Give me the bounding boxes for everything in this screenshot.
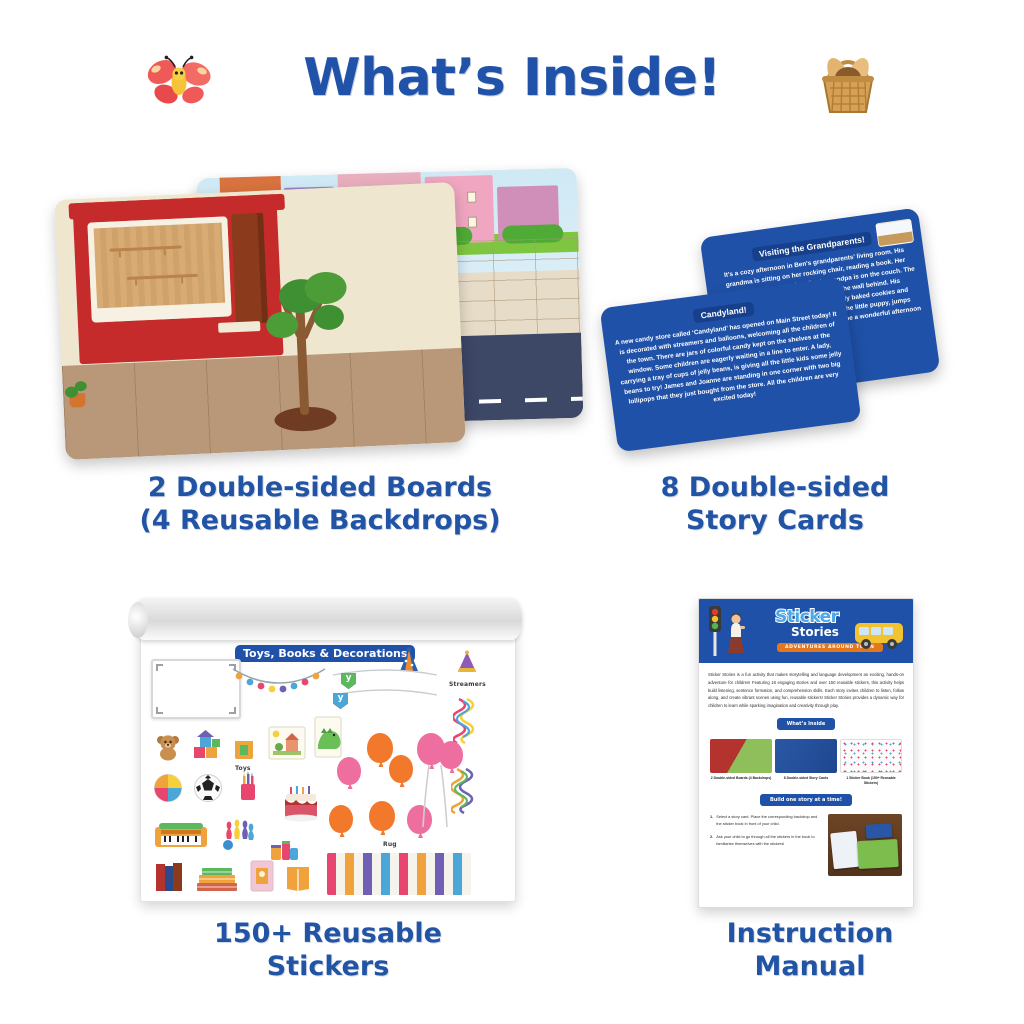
toy-box-sticker — [233, 735, 255, 761]
manual-step-photo — [828, 814, 902, 876]
label-streamers: Streamers — [449, 681, 486, 688]
step-text: Ask your child to go through all the sti… — [716, 834, 822, 847]
traffic-light-icon — [707, 605, 723, 657]
open-book-sticker — [285, 863, 311, 893]
manual-logo-sticker: Sticker — [775, 607, 839, 627]
manual-build-story-pill: Build one story at a time! — [760, 794, 852, 806]
books-sticker — [153, 861, 187, 893]
building-blocks-sticker — [191, 729, 223, 761]
step-text: Select a story card. Place the correspon… — [716, 814, 822, 827]
caption-line: Stickers — [128, 951, 528, 984]
thumb-caption: 8 Double-sided Story Cards — [775, 776, 837, 781]
whats-inside-page: What’s Inside! — [0, 0, 1024, 1024]
manual-body: Sticker Stories is a fun activity that m… — [699, 663, 913, 876]
manual-step: 1. Select a story card. Place the corres… — [710, 814, 822, 827]
manual-logo-stories: Stories — [791, 625, 839, 639]
soccer-ball-sticker — [193, 773, 223, 803]
story-card-title: Candyland! — [693, 302, 755, 324]
caption-line: Story Cards — [610, 505, 940, 538]
sticker-sheet-title: Toys, Books & Decorations — [235, 645, 415, 662]
balloon-strings — [419, 763, 455, 829]
caption-boards: 2 Double-sided Boards (4 Reusable Backdr… — [60, 472, 580, 538]
manual-steps: 1. Select a story card. Place the corres… — [708, 814, 904, 876]
manual-whats-inside-pill: What’s Inside — [777, 718, 836, 730]
book-stack-sticker — [195, 863, 239, 893]
manual-step: 2. Ask your child to go through all the … — [710, 834, 822, 847]
photo-placeholder-slot — [151, 659, 241, 719]
caption-line: Manual — [660, 951, 960, 984]
caption-story-cards: 8 Double-sided Story Cards — [610, 472, 940, 538]
streamer-sticker — [451, 767, 479, 815]
shop-door — [231, 213, 268, 324]
page-header: What’s Inside! — [0, 0, 1024, 150]
label-rug: Rug — [383, 841, 397, 848]
story-cards-group: Visiting the Grandparents! It’s a cozy a… — [600, 200, 940, 460]
bowling-pins-sticker — [221, 819, 255, 851]
manual-thumb-item: 1 Sticker Book (150+ Reusable Stickers) — [840, 739, 902, 786]
story-card-thumbnail — [875, 219, 914, 248]
teddy-bear-sticker — [155, 733, 181, 761]
sidewalk — [62, 348, 466, 460]
caption-line: 2 Double-sided Boards — [60, 472, 580, 505]
step-number: 1. — [710, 814, 713, 827]
balloon-sticker — [369, 801, 395, 831]
caption-sticker-book: 150+ Reusable Stickers — [128, 918, 528, 984]
manual-thumb-item: 8 Double-sided Story Cards — [775, 739, 837, 786]
caption-line: Instruction — [660, 918, 960, 951]
caption-line: 150+ Reusable — [128, 918, 528, 951]
manual-header-banner: Sticker Stories ADVENTURES AROUND TOWN — [699, 599, 913, 663]
manual-contents-thumbnails: 2 Double-sided Boards (4 Backdrops) 8 Do… — [708, 739, 904, 786]
school-bus-icon — [853, 619, 907, 653]
streamer-sticker — [453, 697, 479, 745]
sticker-book: Toys, Books & Decorations — [128, 598, 528, 910]
thumb-caption: 2 Double-sided Boards (4 Backdrops) — [710, 776, 772, 781]
thumb-image-sticker-book — [840, 739, 902, 773]
manual-thumb-item: 2 Double-sided Boards (4 Backdrops) — [710, 739, 772, 786]
backdrop-board-candy-shop — [54, 182, 465, 460]
pencil-cup-sticker — [237, 771, 259, 803]
step-number: 2. — [710, 834, 713, 847]
balloon-sticker — [329, 805, 353, 833]
rug-sticker — [327, 853, 471, 895]
caption-line: (4 Reusable Backdrops) — [60, 505, 580, 538]
instruction-manual: Sticker Stories ADVENTURES AROUND TOWN S… — [698, 598, 914, 908]
thumb-image-boards — [710, 739, 772, 773]
backdrop-boards-group — [60, 165, 580, 455]
balloon-sticker — [389, 755, 413, 783]
string-lights-sticker — [231, 667, 327, 701]
balloon-sticker — [337, 757, 361, 785]
pedestrian-girl-icon — [727, 613, 745, 657]
story-card-candyland: Candyland! A new candy store called ‘Can… — [600, 277, 862, 453]
caption-instruction-manual: Instruction Manual — [660, 918, 960, 984]
sticker-sheet: Toys, Books & Decorations — [151, 645, 507, 893]
book-page-curl — [134, 598, 522, 640]
thumb-image-cards — [775, 739, 837, 773]
shop-doorstep — [218, 321, 260, 333]
thumb-caption: 1 Sticker Book (150+ Reusable Stickers) — [840, 776, 902, 786]
sticker-sheet-page: Toys, Books & Decorations — [140, 630, 516, 902]
bread-basket-icon — [812, 44, 884, 116]
book-spiral-end — [128, 602, 148, 638]
dinosaur-book-sticker — [313, 713, 343, 759]
manual-steps-text: 1. Select a story card. Place the corres… — [710, 814, 822, 876]
shop-window-display — [94, 223, 225, 309]
party-hat-sticker — [455, 650, 479, 674]
caption-line: 8 Double-sided — [610, 472, 940, 505]
storybook-sticker — [249, 859, 275, 893]
picture-book-sticker — [267, 723, 307, 763]
happy-birthday-banner-sticker: h a p p y b i r t h d a y — [331, 669, 439, 715]
toy-piano-sticker — [153, 821, 209, 849]
birthday-cake-sticker — [279, 785, 323, 823]
beach-ball-sticker — [153, 773, 183, 803]
balloon-sticker — [367, 733, 393, 763]
manual-intro-paragraph: Sticker Stories is a fun activity that m… — [708, 671, 904, 710]
